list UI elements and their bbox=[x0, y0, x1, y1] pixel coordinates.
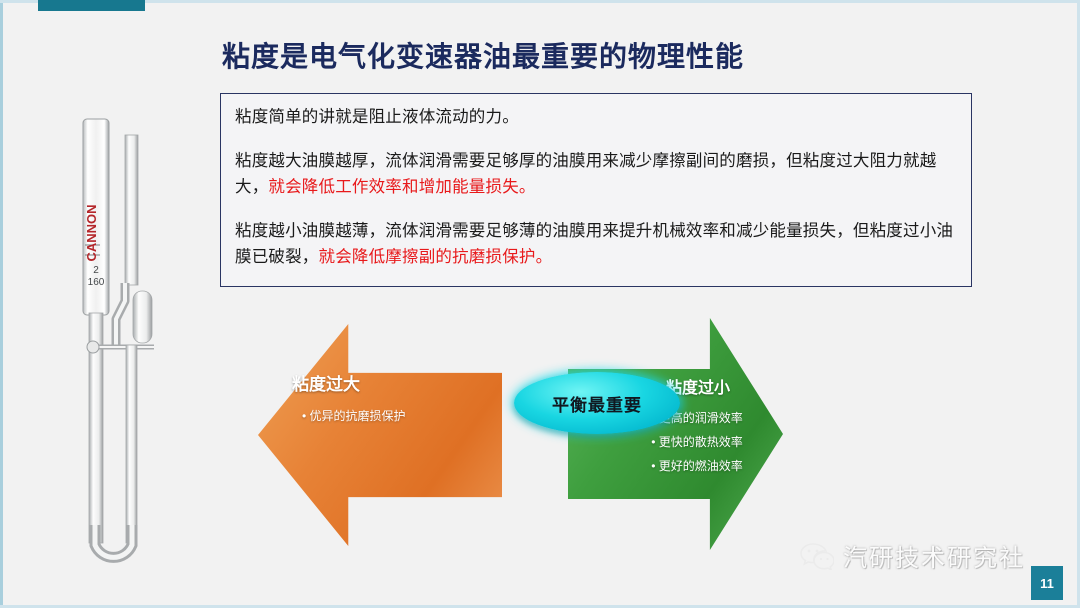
balance-badge-label: 平衡最重要 bbox=[552, 391, 642, 416]
slide-border-top bbox=[0, 0, 1080, 3]
viscometer-illustration: CANNON 2 160 bbox=[70, 105, 180, 565]
watermark: 汽研技术研究社 bbox=[800, 538, 1025, 573]
slide-border-left bbox=[0, 0, 3, 608]
body-textbox: 粘度简单的讲就是阻止液体流动的力。 粘度越大油膜越厚，流体润滑需要足够厚的油膜用… bbox=[220, 93, 972, 287]
viscometer-serial-label: 160 bbox=[88, 277, 105, 288]
slide-canvas: 粘度是电气化变速器油最重要的物理性能 bbox=[0, 0, 1080, 608]
top-accent-tab bbox=[38, 0, 145, 11]
arrow-high-viscosity-bullets: • 优异的抗磨损保护 bbox=[302, 406, 492, 427]
page-number-badge: 11 bbox=[1031, 566, 1063, 600]
paragraph-high-viscosity: 粘度越大油膜越厚，流体润滑需要足够厚的油膜用来减少摩擦副间的磨损，但粘度过大阻力… bbox=[235, 148, 957, 200]
paragraph-low-viscosity: 粘度越小油膜越薄，流体润滑需要足够薄的油膜用来提升机械效率和减少能量损失，但粘度… bbox=[235, 218, 957, 270]
list-item: • 优异的抗磨损保护 bbox=[302, 406, 492, 427]
viscometer-svg: CANNON 2 160 bbox=[70, 105, 180, 565]
balance-badge: 平衡最重要 bbox=[514, 372, 680, 434]
paragraph-definition: 粘度简单的讲就是阻止液体流动的力。 bbox=[235, 104, 957, 130]
paragraph-high-viscosity-highlight: 就会降低工作效率和增加能量损失。 bbox=[268, 178, 535, 196]
arrow-low-viscosity: 粘度过小 • 更高的润滑效率 • 更快的散热效率 • 更好的燃油效率 bbox=[568, 318, 783, 550]
viscometer-brand-label: CANNON bbox=[84, 204, 99, 261]
viscometer-size-label: 2 bbox=[93, 265, 99, 276]
arrow-high-viscosity: 粘度过大 • 优异的抗磨损保护 bbox=[258, 324, 502, 546]
paragraph-low-viscosity-highlight: 就会降低摩擦副的抗磨损保护。 bbox=[319, 248, 553, 266]
arrow-high-viscosity-heading: 粘度过大 bbox=[292, 370, 492, 395]
list-item: • 更快的散热效率 bbox=[618, 430, 776, 454]
list-item: • 更好的燃油效率 bbox=[618, 454, 776, 478]
page-title: 粘度是电气化变速器油最重要的物理性能 bbox=[222, 40, 982, 74]
arrow-high-viscosity-shape bbox=[258, 324, 502, 546]
wechat-icon bbox=[800, 542, 834, 570]
watermark-text: 汽研技术研究社 bbox=[843, 538, 1025, 573]
